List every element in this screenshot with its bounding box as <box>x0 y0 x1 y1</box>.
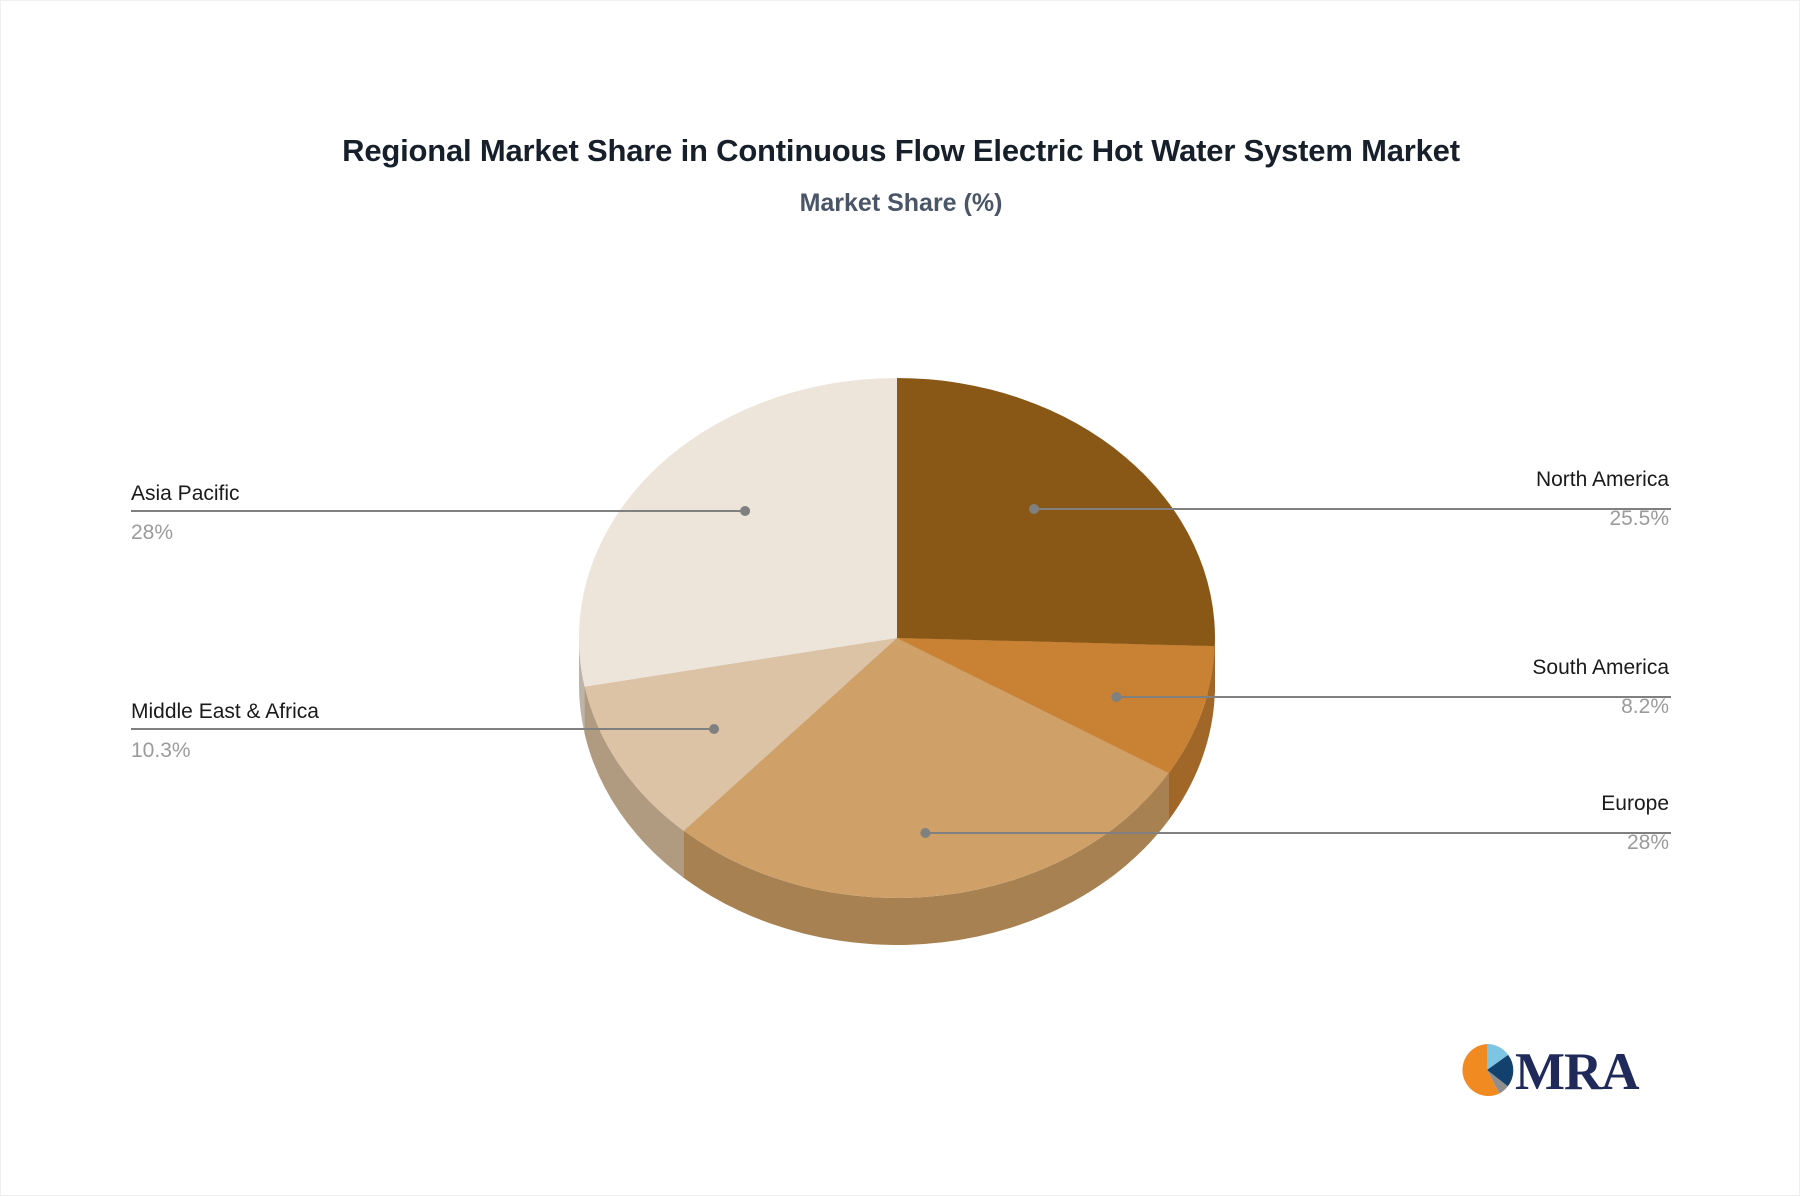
callout-label-south-america: South America 8.2% <box>1532 653 1669 722</box>
callout-label-value: 28% <box>1601 828 1669 858</box>
callout-label-name: Europe <box>1601 789 1669 819</box>
callout-label-value: 8.2% <box>1532 692 1669 722</box>
mra-logo: MRA <box>1453 1037 1643 1103</box>
pie-slices-group <box>579 378 1215 945</box>
callout-label-value: 10.3% <box>131 736 319 766</box>
leader-dot <box>740 506 750 516</box>
callout-label-middle-east-africa: Middle East & Africa 10.3% <box>131 697 319 766</box>
logo-pie-icon <box>1462 1044 1513 1096</box>
callout-label-name: Middle East & Africa <box>131 697 319 727</box>
callout-label-name: North America <box>1536 465 1669 495</box>
callout-label-europe: Europe 28% <box>1601 789 1669 858</box>
callout-label-name: Asia Pacific <box>131 479 240 509</box>
callout-label-value: 28% <box>131 518 240 548</box>
callout-label-asia-pacific: Asia Pacific 28% <box>131 479 240 548</box>
callout-label-north-america: North America 25.5% <box>1536 465 1669 534</box>
leader-dot <box>1029 504 1039 514</box>
pie-slice[interactable] <box>897 378 1215 646</box>
chart-canvas: Regional Market Share in Continuous Flow… <box>0 0 1800 1196</box>
leader-dot <box>709 724 719 734</box>
callout-label-name: South America <box>1532 653 1669 683</box>
leader-dot <box>1111 692 1121 702</box>
logo-wordmark: MRA <box>1515 1043 1639 1101</box>
pie-chart-graphic <box>1 1 1800 1197</box>
leader-dot <box>920 828 930 838</box>
pie-slice[interactable] <box>579 378 897 687</box>
callout-label-value: 25.5% <box>1536 504 1669 534</box>
